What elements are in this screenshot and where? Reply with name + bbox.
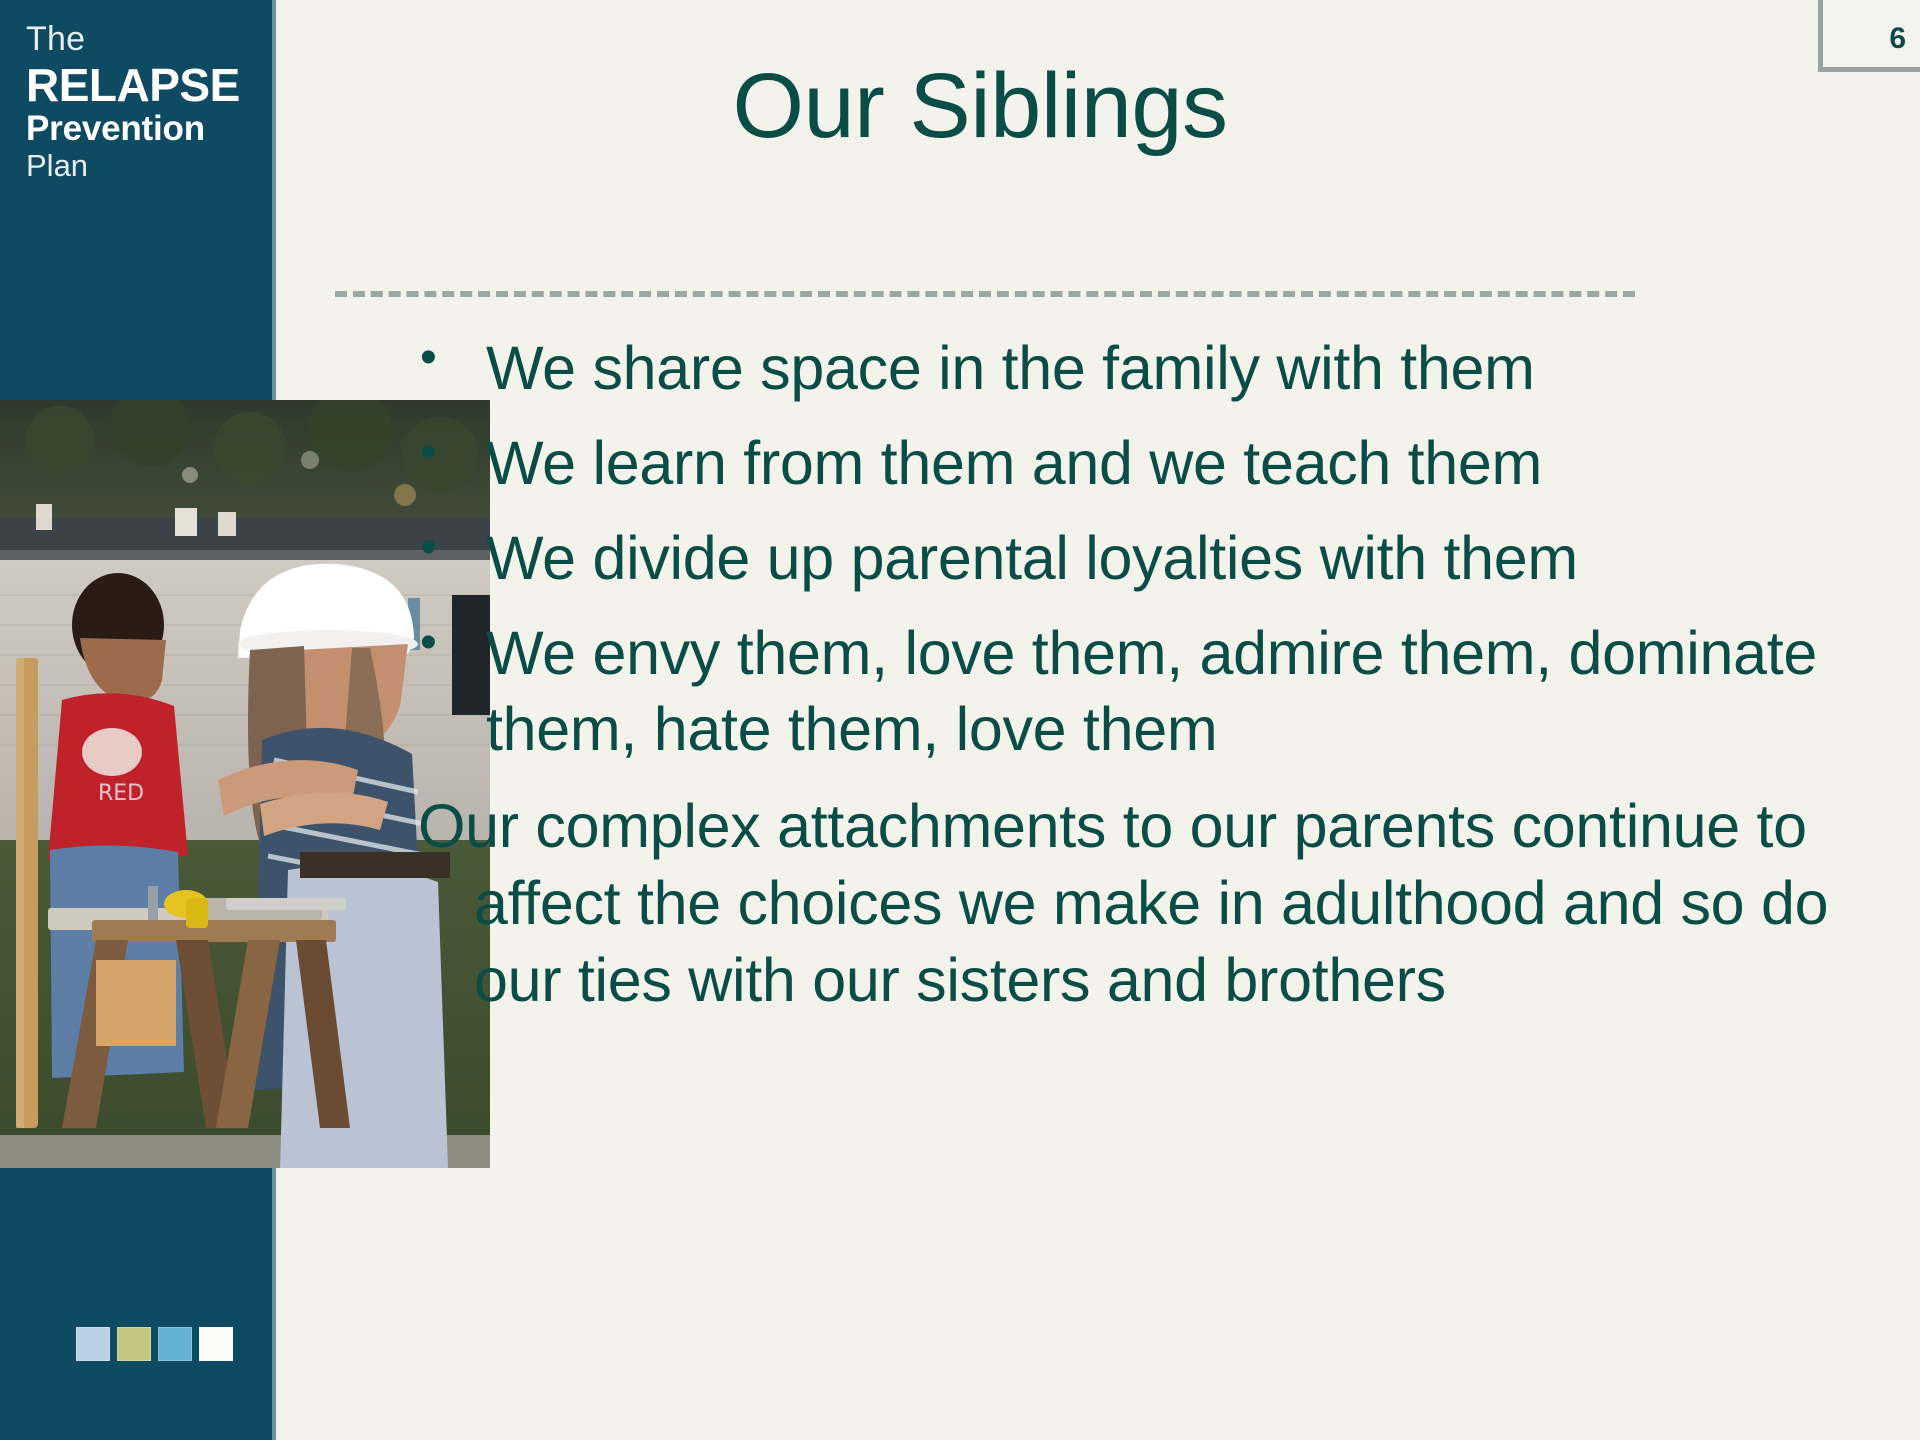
list-item: We learn from them and we teach them [418, 425, 1838, 502]
slide: The RELAPSE Prevention Plan [0, 0, 1920, 1440]
brand-logo: The RELAPSE Prevention Plan [26, 22, 256, 183]
list-item: We share space in the family with them [418, 330, 1838, 407]
logo-line-plan: Plan [26, 149, 256, 183]
logo-line-the: The [26, 22, 256, 58]
children-building-photo: RED [0, 400, 490, 1168]
list-item: We divide up parental loyalties with the… [418, 520, 1838, 597]
closing-paragraph: Our complex attachments to our parents c… [418, 788, 1838, 1019]
svg-text:RED: RED [98, 781, 144, 806]
chip-medium-blue [158, 1327, 192, 1361]
closing-paragraph-text: Our complex attachments to our parents c… [418, 792, 1828, 1014]
chip-olive [117, 1327, 151, 1361]
logo-line-prevention: Prevention [26, 110, 256, 148]
slide-body: We share space in the family with them W… [418, 330, 1838, 1019]
list-item: We envy them, love them, admire them, do… [418, 615, 1838, 769]
chip-white [199, 1327, 233, 1361]
title-divider [335, 291, 1635, 297]
photo-illustration: RED [0, 400, 490, 1168]
page-title: Our Siblings [280, 58, 1680, 155]
logo-line-relapse: RELAPSE [26, 62, 256, 110]
color-chip-row [76, 1327, 233, 1361]
chip-light-blue [76, 1327, 110, 1361]
page-number-box: 6 [1818, 0, 1920, 72]
bullet-list: We share space in the family with them W… [418, 330, 1838, 768]
page-number: 6 [1889, 22, 1906, 56]
